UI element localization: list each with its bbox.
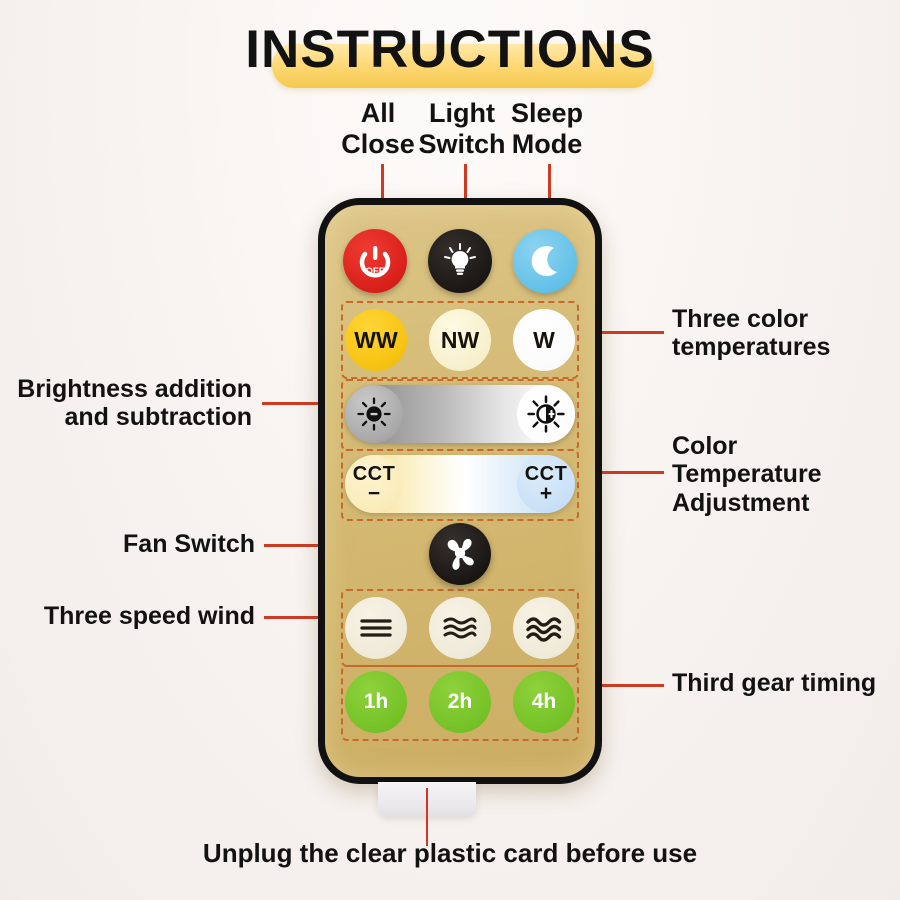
sun-plus-icon xyxy=(527,395,565,433)
nw-button[interactable]: NW xyxy=(429,309,491,371)
cct-slider[interactable]: CCT − CCT + xyxy=(345,455,575,513)
callout-sleep-mode: Sleep Mode xyxy=(487,98,607,159)
power-off-button[interactable]: OFF xyxy=(343,229,407,293)
moon-star-icon xyxy=(524,240,566,282)
leader-three-color xyxy=(592,331,664,334)
instruction-diagram: INSTRUCTIONS All Close Light Switch Slee… xyxy=(0,0,900,900)
brightness-slider[interactable] xyxy=(345,385,575,443)
sun-minus-icon xyxy=(356,396,392,432)
cct-up-button[interactable]: CCT + xyxy=(517,455,575,513)
page-title: INSTRUCTIONS xyxy=(0,19,900,80)
timer-1h-button[interactable]: 1h xyxy=(345,671,407,733)
callout-fan-switch: Fan Switch xyxy=(60,530,255,558)
callout-three-speed-wind: Three speed wind xyxy=(22,602,255,630)
color-temperature-row: WW NW W xyxy=(345,309,575,371)
fan-icon xyxy=(438,532,482,576)
cct-down-button[interactable]: CCT − xyxy=(345,455,403,513)
wind-low-button[interactable] xyxy=(345,597,407,659)
sleep-mode-button[interactable] xyxy=(513,229,577,293)
fan-row xyxy=(325,523,595,585)
callout-third-gear-timing: Third gear timing xyxy=(672,669,900,697)
brightness-up-button[interactable] xyxy=(517,385,575,443)
timer-row: 1h 2h 4h xyxy=(345,671,575,733)
bottom-caption: Unplug the clear plastic card before use xyxy=(0,838,900,869)
callout-brightness-line1: Brightness addition xyxy=(12,375,252,403)
cct-down-label: CCT xyxy=(353,465,396,483)
callout-three-color-line2: temperatures xyxy=(672,333,897,361)
callout-cct-line2: Temperature xyxy=(672,460,897,488)
bulb-icon xyxy=(439,240,481,282)
timer-4h-button[interactable]: 4h xyxy=(513,671,575,733)
light-switch-button[interactable] xyxy=(428,229,492,293)
cct-up-sign: + xyxy=(540,484,552,503)
callout-cct-line3: Adjustment xyxy=(672,489,897,517)
callout-fan-switch-text: Fan Switch xyxy=(60,530,255,558)
callout-color-temperature-adjustment: Color Temperature Adjustment xyxy=(672,432,897,517)
callout-sleep-mode-line2: Mode xyxy=(487,129,607,160)
wind-speed-row xyxy=(345,597,575,659)
callout-three-speed-wind-text: Three speed wind xyxy=(22,602,255,630)
cct-up-label: CCT xyxy=(525,465,568,483)
wind-medium-button[interactable] xyxy=(429,597,491,659)
power-icon: OFF xyxy=(355,241,395,281)
callout-cct-line1: Color xyxy=(672,432,897,460)
top-button-row: OFF xyxy=(343,229,577,293)
ww-button[interactable]: WW xyxy=(345,309,407,371)
callout-sleep-mode-line1: Sleep xyxy=(487,98,607,129)
brightness-down-button[interactable] xyxy=(345,385,403,443)
wind-low-icon xyxy=(357,613,395,643)
wind-medium-icon xyxy=(441,613,479,643)
cct-down-sign: − xyxy=(368,484,380,503)
callout-third-gear-timing-text: Third gear timing xyxy=(672,669,900,697)
fan-switch-button[interactable] xyxy=(429,523,491,585)
svg-text:OFF: OFF xyxy=(366,266,385,277)
callout-brightness-line2: and subtraction xyxy=(12,403,252,431)
wind-high-icon xyxy=(525,613,563,643)
w-button[interactable]: W xyxy=(513,309,575,371)
leader-three-speed-wind xyxy=(264,616,326,619)
timer-2h-button[interactable]: 2h xyxy=(429,671,491,733)
callout-three-color-line1: Three color xyxy=(672,305,897,333)
remote-control-body: OFF xyxy=(318,198,602,784)
wind-high-button[interactable] xyxy=(513,597,575,659)
leader-cct xyxy=(592,471,664,474)
leader-third-gear xyxy=(592,684,664,687)
callout-three-color-temperatures: Three color temperatures xyxy=(672,305,897,362)
title-area: INSTRUCTIONS xyxy=(0,6,900,98)
callout-brightness: Brightness addition and subtraction xyxy=(12,375,252,432)
